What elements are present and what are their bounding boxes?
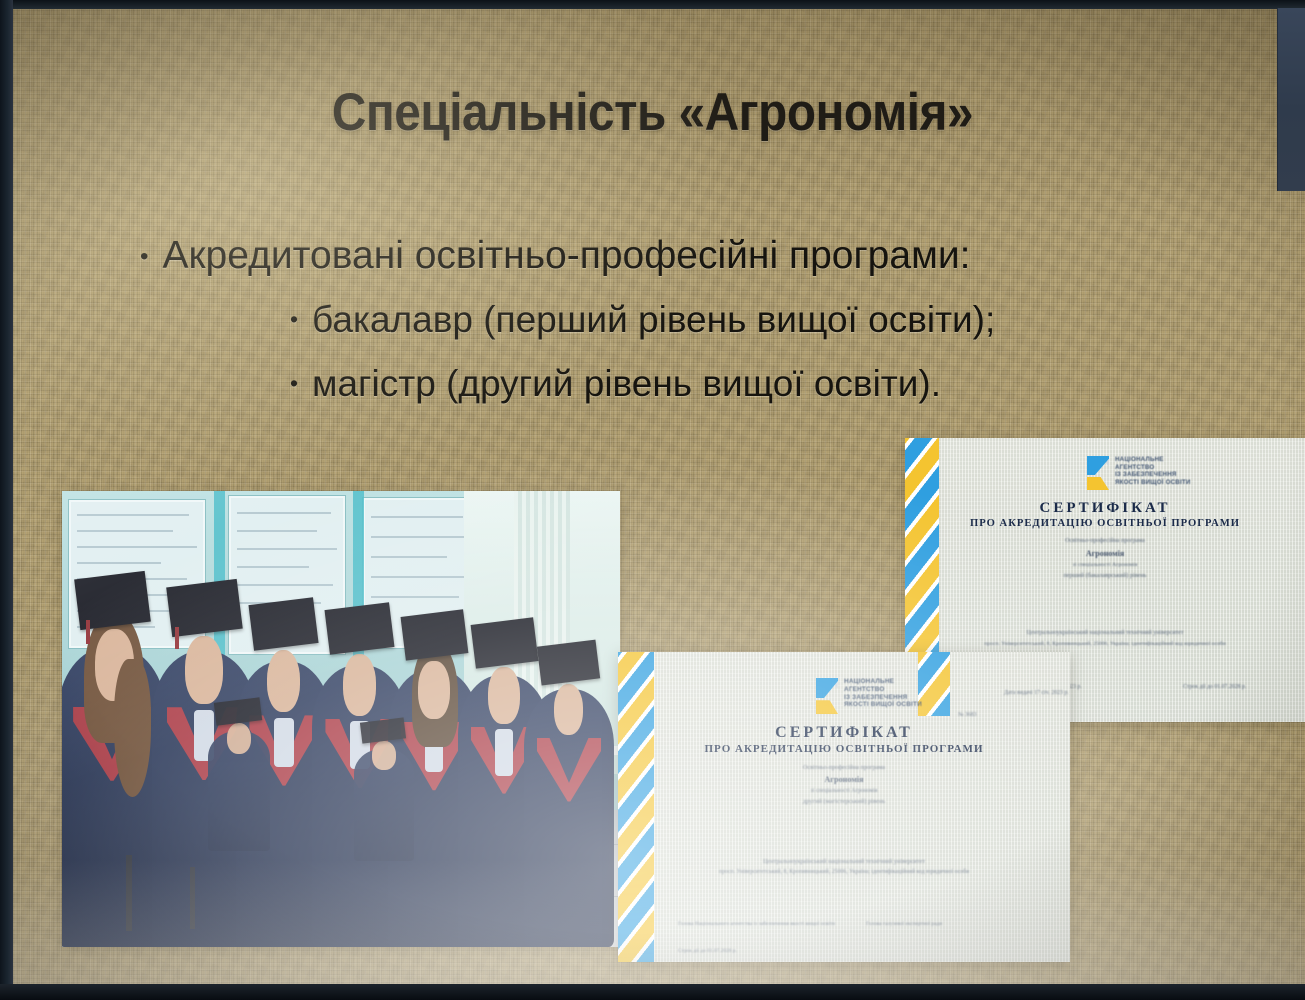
graduate-figure: [208, 731, 270, 851]
naqa-logo-icon: [816, 678, 838, 714]
certificate-program-name: Агрономія: [905, 549, 1305, 558]
screen-edge-bottom: [0, 984, 1305, 1000]
logo-line: АГЕНТСТВО: [844, 686, 922, 694]
logo-line: НАЦІОНАЛЬНЕ: [844, 678, 922, 686]
mortarboard-icon: [214, 697, 262, 725]
mortarboard-icon: [360, 717, 407, 744]
bullet-marker-icon: •: [140, 232, 148, 269]
bullet-item-1: • Акредитовані освітньо-професійні прогр…: [0, 232, 1305, 280]
bullet-marker-icon: •: [290, 360, 298, 395]
certificate-specialty: зі спеціальності Агрономія: [618, 788, 1070, 794]
certificate-title: СЕРТИФІКАТ: [618, 724, 1070, 742]
certificate-address: просп. Університетський, 8, Кропивницьки…: [618, 869, 1070, 875]
certificate-level: другий (магістерський) рівень: [618, 798, 1070, 805]
graduates-photo: [62, 491, 620, 947]
bullet-text: Акредитовані освітньо-професійні програм…: [162, 232, 970, 280]
certificate-valid-until: Строк дії до 01.07.2028 р.: [1183, 684, 1246, 690]
photo-chair: [126, 855, 132, 931]
certificate-program-label: Освітньо-професійна програма: [905, 538, 1305, 544]
certificate-program-label: Освітньо-професійна програма: [618, 764, 1070, 771]
logo-line: ЯКОСТІ ВИЩОЇ ОСВІТИ: [1115, 479, 1191, 487]
naqa-logo: НАЦІОНАЛЬНЕ АГЕНТСТВО ІЗ ЗАБЕЗПЕЧЕННЯ ЯК…: [816, 678, 922, 714]
certificate-level: перший (бакалаврський) рівень: [905, 572, 1305, 579]
bullet-text: бакалавр (перший рівень вищої освіти);: [312, 296, 995, 344]
graduate-figure: [62, 647, 166, 947]
certificate-footer-right: Голова галузевої експертної ради: [866, 920, 1026, 928]
certificate-institution: Центральноукраїнський національний техні…: [905, 630, 1305, 636]
certificate-address: просп. Університетський, 8, Кропивницьки…: [905, 641, 1305, 647]
certificate-subtitle: ПРО АКРЕДИТАЦІЮ ОСВІТНЬОЇ ПРОГРАМИ: [905, 518, 1305, 529]
certificate-title: СЕРТИФІКАТ: [905, 500, 1305, 517]
bullet-item-3: • магістр (другий рівень вищої освіти).: [0, 360, 1305, 408]
bullet-list: • Акредитовані освітньо-професійні прогр…: [0, 232, 1305, 408]
logo-line: ЯКОСТІ ВИЩОЇ ОСВІТИ: [844, 701, 922, 709]
screen-edge-top: [0, 0, 1305, 9]
logo-line: НАЦІОНАЛЬНЕ: [1115, 456, 1191, 464]
wall-panel-top-right: [1277, 8, 1305, 191]
bullet-item-2: • бакалавр (перший рівень вищої освіти);: [0, 296, 1305, 344]
graduate-figure: [354, 749, 414, 861]
naqa-logo-icon: [1087, 456, 1109, 490]
certificate-subtitle: ПРО АКРЕДИТАЦІЮ ОСВІТНЬОЇ ПРОГРАМИ: [618, 743, 1070, 755]
certificate-footer-left: Голова Національного агентства із забезп…: [678, 920, 838, 928]
naqa-logo: НАЦІОНАЛЬНЕ АГЕНТСТВО ІЗ ЗАБЕЗПЕЧЕННЯ ЯК…: [1087, 456, 1191, 490]
mortarboard-icon: [325, 602, 395, 655]
bullet-marker-icon: •: [290, 296, 298, 331]
certificate-number: № 3683: [958, 712, 977, 718]
certificate-institution: Центральноукраїнський національний техні…: [618, 858, 1070, 865]
mortarboard-icon: [400, 610, 468, 662]
mortarboard-icon: [249, 597, 319, 650]
mortarboard-icon: [537, 639, 601, 685]
mortarboard-icon: [470, 617, 537, 668]
bullet-text: магістр (другий рівень вищої освіти).: [312, 360, 941, 408]
logo-line: АГЕНТСТВО: [1115, 464, 1191, 472]
graduate-figure: [524, 689, 614, 947]
certificate-specialty: зі спеціальності Агрономія: [905, 562, 1305, 568]
certificate-issue-date: Дата видачі 17 січ. 2023 р.: [1004, 690, 1069, 696]
certificate-valid-until: Строк дії до 01.07.2028 р.: [678, 948, 737, 954]
photo-chair: [190, 867, 195, 929]
logo-line: ІЗ ЗАБЕЗПЕЧЕННЯ: [1115, 471, 1191, 479]
screen-edge-left: [0, 0, 13, 1000]
certificate-program-name: Агрономія: [618, 775, 1070, 784]
slide-title: Спеціальність «Агрономія»: [65, 82, 1240, 143]
presentation-slide: Спеціальність «Агрономія» • Акредитовані…: [0, 0, 1305, 1000]
certificate-master: НАЦІОНАЛЬНЕ АГЕНТСТВО ІЗ ЗАБЕЗПЕЧЕННЯ ЯК…: [618, 652, 1070, 962]
